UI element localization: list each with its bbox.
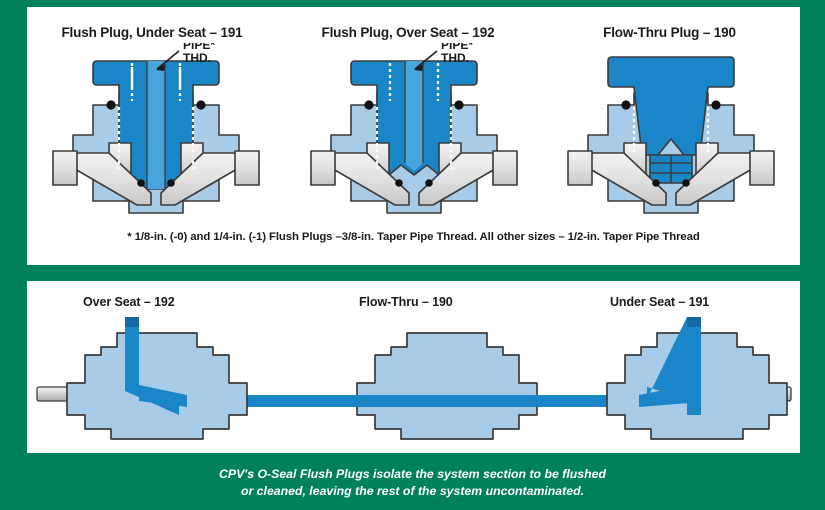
bottom-label-under-seat: Under Seat – 191 <box>610 295 709 309</box>
diagram-title-under-seat: Flush Plug, Under Seat – 191 <box>27 25 277 40</box>
o-ring-seat-right <box>682 179 690 187</box>
port-flange-right <box>750 151 774 185</box>
valve-diagram-under-seat: PIPE* THD. <box>27 43 285 233</box>
o-ring-seat-right <box>425 179 433 187</box>
top-panel-title-row: Flush Plug, Under Seat – 191 Flush Plug,… <box>27 25 800 40</box>
port-flange-right <box>493 151 517 185</box>
o-ring-seat-right <box>167 179 175 187</box>
flow-inlet-under-seat <box>687 317 701 327</box>
o-ring-seat-left <box>652 179 660 187</box>
diagram-title-over-seat: Flush Plug, Over Seat – 192 <box>277 25 539 40</box>
valve-body-over-seat <box>67 333 247 439</box>
o-ring-left <box>364 100 373 109</box>
figure-caption: CPV's O-Seal Flush Plugs isolate the sys… <box>0 466 825 500</box>
port-flange-left <box>311 151 335 185</box>
valve-diagram-flow-thru <box>542 43 800 233</box>
o-ring-left <box>622 100 631 109</box>
port-flange-left <box>53 151 77 185</box>
diagram-title-flow-thru: Flow-Thru Plug – 190 <box>539 25 800 40</box>
flow-path-svg <box>27 311 800 451</box>
diagram-page: Flush Plug, Under Seat – 191 Flush Plug,… <box>0 0 825 510</box>
pipe-thread-callout-line2: THD. <box>183 51 211 65</box>
plug-bore <box>147 61 165 189</box>
caption-line-1: CPV's O-Seal Flush Plugs isolate the sys… <box>0 466 825 483</box>
caption-line-2: or cleaned, leaving the rest of the syst… <box>0 483 825 500</box>
plug-bore-channel <box>405 61 423 171</box>
bottom-label-flow-thru: Flow-Thru – 190 <box>359 295 453 309</box>
bottom-label-over-seat: Over Seat – 192 <box>83 295 175 309</box>
valve-cross-section-row: PIPE* THD. <box>27 43 800 233</box>
valve-body-flow-thru <box>357 333 537 439</box>
port-flange-left <box>568 151 592 185</box>
o-ring-seat-left <box>137 179 145 187</box>
thread-size-footnote: * 1/8-in. (-0) and 1/4-in. (-1) Flush Pl… <box>27 231 800 243</box>
o-ring-right <box>454 100 463 109</box>
flow-thru-svg <box>546 43 796 231</box>
pipe-thread-callout-line2: THD. <box>441 51 469 65</box>
o-ring-seat-left <box>395 179 403 187</box>
top-panel-card: Flush Plug, Under Seat – 191 Flush Plug,… <box>27 7 800 265</box>
bottom-panel-card: Over Seat – 192 Flow-Thru – 190 Under Se… <box>27 281 800 453</box>
port-flange-right <box>235 151 259 185</box>
o-ring-right <box>712 100 721 109</box>
o-ring-right <box>196 100 205 109</box>
over-seat-svg: PIPE* THD. <box>289 43 539 231</box>
o-ring-left <box>106 100 115 109</box>
flow-inlet-over-seat <box>125 317 139 327</box>
flow-path-illustration <box>27 311 800 451</box>
under-seat-svg: PIPE* THD. <box>31 43 281 231</box>
flow-path-flow-thru <box>352 395 542 407</box>
valve-diagram-over-seat: PIPE* THD. <box>285 43 543 233</box>
